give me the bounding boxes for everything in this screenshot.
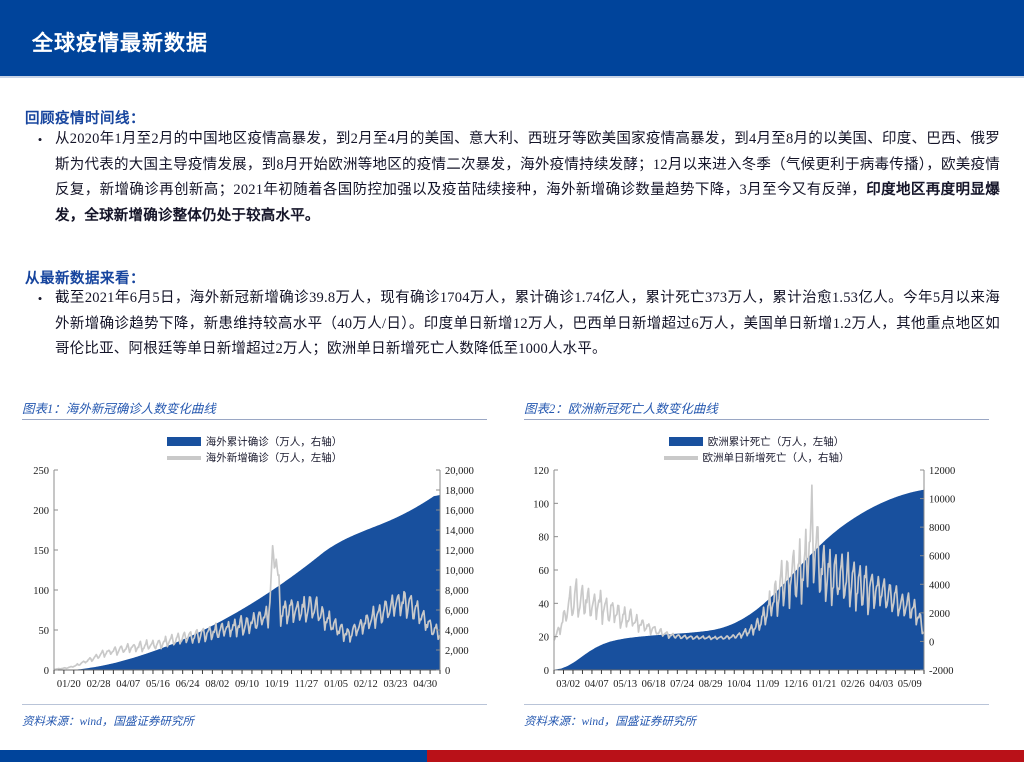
svg-text:14,000: 14,000 [445,526,474,537]
bullet-marker: • [25,286,55,363]
svg-text:03/23: 03/23 [384,679,408,690]
chart-panel-overseas-confirmed: 图表1：海外新冠确诊人数变化曲线 海外累计确诊（万人，右轴） 海外新增确诊（万人… [22,398,498,738]
section-heading-timeline: 回顾疫情时间线： [25,107,145,128]
chart-1-legend-item-cumulative: 海外累计确诊（万人，右轴） [167,434,343,449]
svg-text:50: 50 [39,626,50,637]
svg-text:20: 20 [539,633,550,644]
legend-swatch-icon [669,437,703,446]
svg-text:200: 200 [33,506,49,517]
chart-1-legend: 海外累计确诊（万人，右轴） 海外新增确诊（万人，左轴） [22,434,487,465]
svg-text:10,000: 10,000 [445,566,474,577]
chart-1-source-note: 资料来源：wind，国盛证券研究所 [22,713,194,729]
svg-text:150: 150 [33,546,49,557]
svg-text:04/07: 04/07 [116,679,140,690]
chart-2-legend: 欧洲累计死亡（万人，左轴） 欧洲单日新增死亡（人，右轴） [524,434,989,465]
svg-text:04/30: 04/30 [413,679,437,690]
svg-text:05/13: 05/13 [613,679,637,690]
footer-bar-blue [0,750,427,762]
svg-text:06/24: 06/24 [176,679,201,690]
svg-text:09/10: 09/10 [235,679,259,690]
chart-1-title: 图表1：海外新冠确诊人数变化曲线 [22,398,216,417]
paragraph-timeline: • 从2020年1月至2月的中国地区疫情高暴发，到2月至4月的美国、意大利、西班… [25,127,1000,229]
svg-text:20,000: 20,000 [445,466,474,477]
svg-text:11/27: 11/27 [295,679,319,690]
svg-text:03/02: 03/02 [556,679,580,690]
svg-text:05/09: 05/09 [898,679,922,690]
chart-1-svg: 05010015020025002,0004,0006,0008,00010,0… [22,464,492,694]
svg-text:80: 80 [539,533,550,544]
chart-1-source-divider [22,704,487,705]
svg-text:12000: 12000 [929,466,955,477]
paragraph-latest-data-text: 截至2021年6月5日，海外新冠新增确诊39.8万人，现有确诊1704万人，累计… [55,286,1000,363]
chart-1-plot: 05010015020025002,0004,0006,0008,00010,0… [22,464,492,694]
svg-text:2000: 2000 [929,609,950,620]
svg-text:10/04: 10/04 [727,679,752,690]
page-title: 全球疫情最新数据 [32,27,208,57]
svg-text:18,000: 18,000 [445,486,474,497]
svg-text:12,000: 12,000 [445,546,474,557]
svg-text:11/09: 11/09 [756,679,780,690]
chart-2-legend-label-daily: 欧洲单日新增死亡（人，右轴） [703,450,850,465]
bullet-marker: • [25,127,55,229]
chart-panel-europe-deaths: 图表2：欧洲新冠死亡人数变化曲线 欧洲累计死亡（万人，左轴） 欧洲单日新增死亡（… [524,398,1000,738]
svg-text:10000: 10000 [929,495,955,506]
section-heading-latest-data: 从最新数据来看： [25,267,145,288]
svg-text:100: 100 [533,499,549,510]
svg-text:05/16: 05/16 [146,679,170,690]
chart-2-title-divider [524,419,989,420]
svg-text:-2000: -2000 [929,666,954,677]
chart-1-legend-item-daily: 海外新增确诊（万人，左轴） [167,450,343,465]
svg-text:6,000: 6,000 [445,606,469,617]
svg-text:08/02: 08/02 [205,679,229,690]
paragraph-timeline-text-a: 从2020年1月至2月的中国地区疫情高暴发，到2月至4月的美国、意大利、西班牙等… [55,131,1000,198]
svg-text:10/19: 10/19 [265,679,289,690]
svg-text:0: 0 [445,666,450,677]
svg-text:4000: 4000 [929,580,950,591]
svg-text:04/03: 04/03 [869,679,893,690]
svg-text:0: 0 [44,666,49,677]
svg-text:0: 0 [929,637,934,648]
chart-2-svg: 020406080100120-200002000400060008000100… [524,464,994,694]
legend-line-icon [664,456,698,460]
svg-text:01/05: 01/05 [324,679,348,690]
paragraph-latest-data: • 截至2021年6月5日，海外新冠新增确诊39.8万人，现有确诊1704万人，… [25,286,1000,363]
chart-2-legend-item-daily: 欧洲单日新增死亡（人，右轴） [664,450,850,465]
svg-text:12/16: 12/16 [784,679,808,690]
legend-line-icon [167,456,201,460]
chart-2-legend-label-cumulative: 欧洲累计死亡（万人，左轴） [708,434,845,449]
chart-2-title: 图表2：欧洲新冠死亡人数变化曲线 [524,398,718,417]
page-footer [0,750,1024,762]
chart-1-legend-label-daily: 海外新增确诊（万人，左轴） [206,450,343,465]
paragraph-timeline-text: 从2020年1月至2月的中国地区疫情高暴发，到2月至4月的美国、意大利、西班牙等… [55,127,1000,229]
svg-text:02/12: 02/12 [354,679,378,690]
svg-text:100: 100 [33,586,49,597]
svg-text:40: 40 [539,599,550,610]
svg-text:250: 250 [33,466,49,477]
svg-text:07/24: 07/24 [670,679,695,690]
svg-text:04/07: 04/07 [585,679,609,690]
svg-text:0: 0 [544,666,549,677]
svg-text:16,000: 16,000 [445,506,474,517]
chart-2-source-note: 资料来源：wind，国盛证券研究所 [524,713,696,729]
svg-text:8000: 8000 [929,523,950,534]
svg-text:2,000: 2,000 [445,646,469,657]
svg-text:01/21: 01/21 [812,679,836,690]
chart-2-source-divider [524,704,989,705]
svg-text:8,000: 8,000 [445,586,469,597]
page-header: 全球疫情最新数据 [0,0,1024,76]
chart-2-legend-item-cumulative: 欧洲累计死亡（万人，左轴） [669,434,845,449]
chart-1-legend-label-cumulative: 海外累计确诊（万人，右轴） [206,434,343,449]
svg-text:06/18: 06/18 [642,679,666,690]
svg-text:120: 120 [533,466,549,477]
header-divider [0,76,1024,78]
svg-text:6000: 6000 [929,552,950,563]
svg-text:4,000: 4,000 [445,626,469,637]
svg-text:60: 60 [539,566,550,577]
svg-text:01/20: 01/20 [57,679,81,690]
svg-text:02/26: 02/26 [841,679,865,690]
chart-2-plot: 020406080100120-200002000400060008000100… [524,464,994,694]
svg-text:02/28: 02/28 [87,679,111,690]
chart-1-title-divider [22,419,487,420]
footer-bar-red [427,750,1024,762]
svg-text:08/29: 08/29 [699,679,723,690]
legend-swatch-icon [167,437,201,446]
